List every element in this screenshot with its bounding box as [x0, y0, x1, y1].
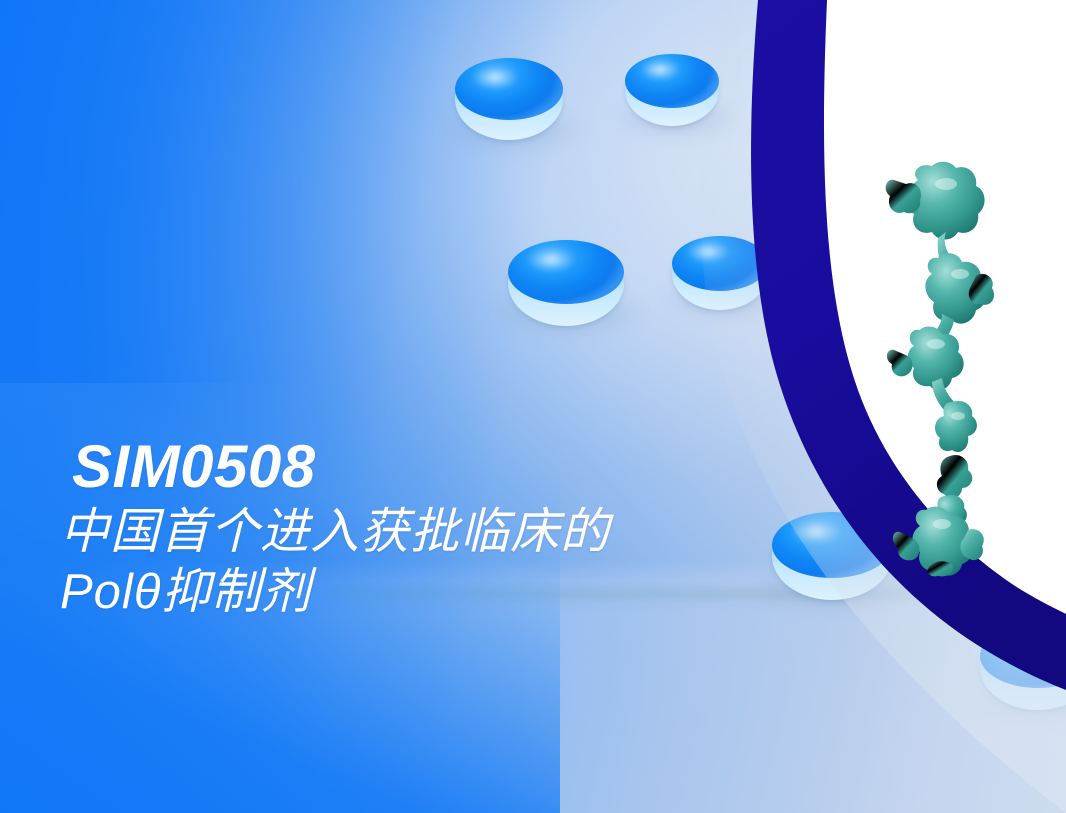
- blue-round-tablet: [455, 58, 563, 140]
- blue-round-tablet: [508, 240, 624, 326]
- blue-round-tablet: [980, 624, 1066, 710]
- tablet-highlight: [471, 66, 519, 90]
- poster-canvas: SIM0508 中国首个进入获批临床的 Polθ抑制剂: [0, 0, 1066, 813]
- headline-subtitle: 中国首个进入获批临床的 Polθ抑制剂: [60, 503, 860, 623]
- blue-round-tablet: [672, 236, 768, 310]
- tablet-highlight: [526, 248, 576, 272]
- headline-line-1: 中国首个进入获批临床的: [60, 503, 860, 563]
- headline-block: SIM0508 中国首个进入获批临床的 Polθ抑制剂: [60, 436, 860, 623]
- tablet-highlight: [873, 458, 913, 477]
- tablet-highlight: [639, 60, 681, 80]
- product-code-title: SIM0508: [72, 436, 860, 497]
- tablet-highlight: [998, 632, 1048, 656]
- tablet-highlight: [686, 242, 730, 262]
- blue-round-tablet: [625, 54, 719, 126]
- headline-line-2: Polθ抑制剂: [60, 563, 860, 623]
